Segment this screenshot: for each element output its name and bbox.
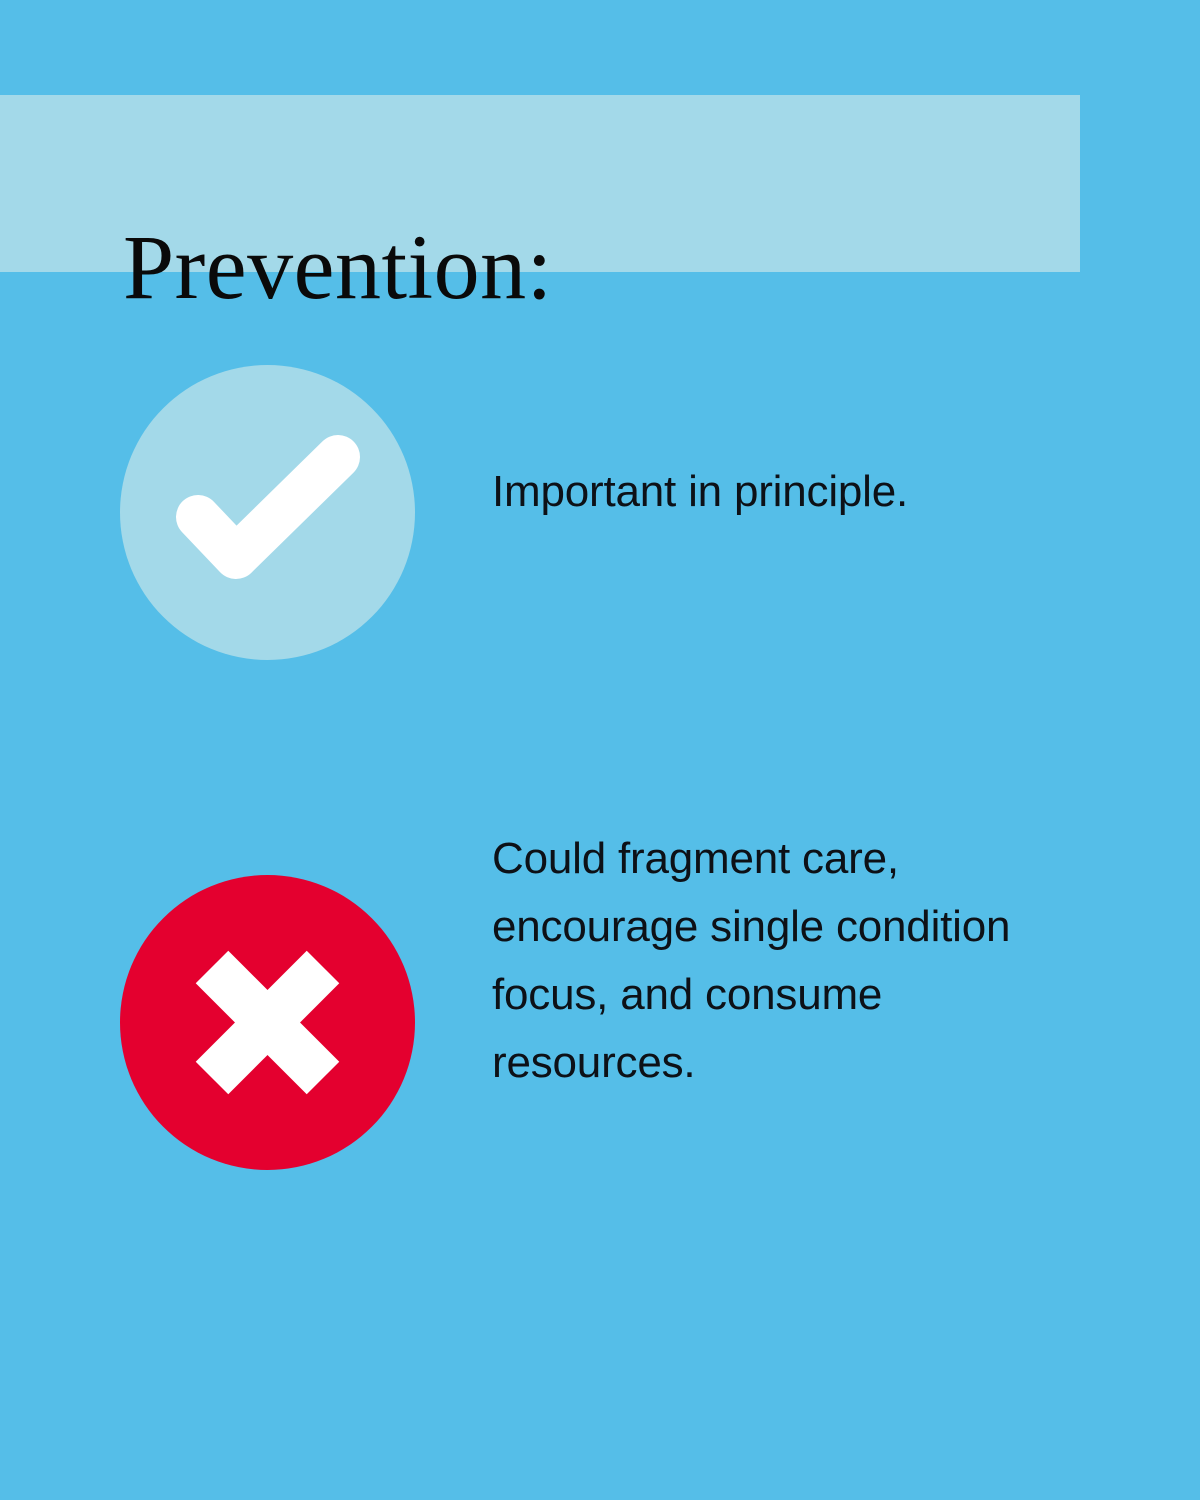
cross-badge <box>120 875 415 1170</box>
point-row-negative: Could fragment care, encourage single co… <box>0 875 1200 1175</box>
check-badge <box>120 365 415 660</box>
point-line: resources. <box>492 1029 1092 1097</box>
point-line: Could fragment care, <box>492 825 1092 893</box>
point-line: encourage single condition <box>492 893 1092 961</box>
page-title: Prevention: <box>123 213 553 321</box>
point-text-negative: Could fragment care, encourage single co… <box>492 825 1092 1097</box>
cross-icon <box>120 875 415 1170</box>
point-line: focus, and consume <box>492 961 1092 1029</box>
slide-canvas: Prevention: Important in principle. Coul… <box>0 0 1200 1500</box>
point-row-positive: Important in principle. <box>0 365 1200 665</box>
title-banner: Prevention: <box>0 95 1080 272</box>
point-text-positive: Important in principle. <box>492 458 1092 526</box>
check-icon <box>120 365 415 660</box>
point-line: Important in principle. <box>492 458 1092 526</box>
